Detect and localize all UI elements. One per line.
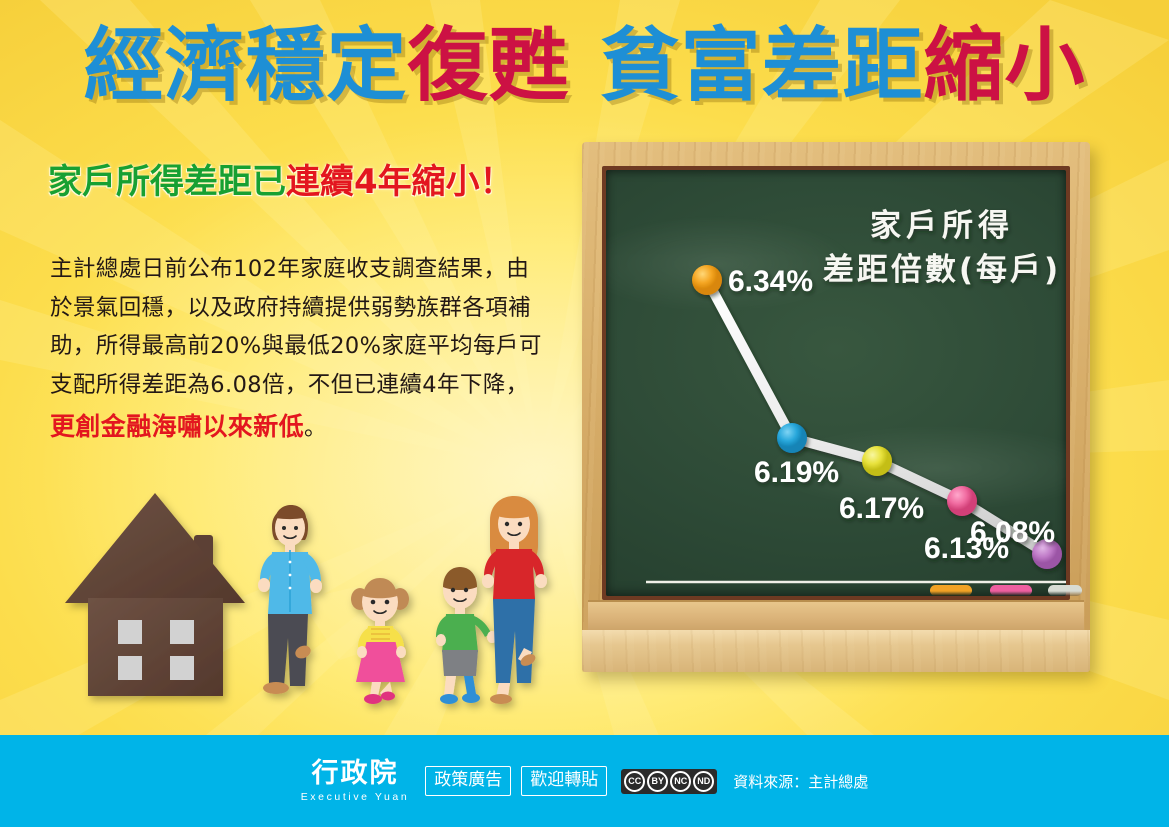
chalk-pink — [990, 585, 1032, 596]
body-text: 主計總處日前公布102年家庭收支調查結果，由於景氣回穩，以及政府持續提供弱勢族群… — [50, 256, 542, 398]
chalk-tray-grain — [582, 630, 1090, 672]
executive-yuan-logo: 行政院 Executive Yuan — [301, 760, 410, 803]
title-part-3: 貧富差距 — [600, 26, 924, 106]
title-part-2: 復甦 — [408, 26, 570, 106]
data-label-99: 6.19% — [754, 456, 839, 489]
chart-title: 家戶所得 差距倍數(每戶) — [823, 208, 1061, 288]
logo-english-text: Executive Yuan — [301, 791, 410, 803]
person-father — [258, 505, 322, 694]
cc-icon: CC — [624, 771, 645, 792]
creative-commons-badge[interactable]: CC BY NC ND — [621, 769, 717, 794]
title-part-1: 經濟穩定 — [84, 26, 408, 106]
family-illustration — [60, 480, 560, 715]
body-copy: 主計總處日前公布102年家庭收支調查結果，由於景氣回穩，以及政府持續提供弱勢族群… — [50, 250, 550, 448]
chalk-tray-front — [582, 630, 1090, 672]
chalk-tray — [582, 600, 1090, 672]
chalk-white — [1048, 585, 1082, 596]
data-source-text: 資料來源：主計總處 — [733, 771, 868, 792]
subtitle-green-text: 家戶所得差距已 — [48, 162, 286, 202]
chart-title-line1: 家戶所得 — [870, 208, 1014, 244]
person-girl — [351, 578, 409, 704]
cc-nc-icon: NC — [670, 771, 691, 792]
body-highlight: 更創金融海嘯以來新低 — [50, 412, 304, 441]
data-label-102: 6.08% — [970, 516, 1055, 549]
house-icon — [65, 493, 245, 696]
subtitle: 家戶所得差距已連續4年縮小！ — [48, 162, 514, 203]
person-mother — [482, 496, 547, 704]
cc-nd-icon: ND — [693, 771, 714, 792]
line-chart: 家戶所得 差距倍數(每戶) 6.34% 6.19% 6.17% 6.13% 6.… — [606, 170, 1066, 596]
data-point-99 — [777, 423, 807, 453]
chalk-orange — [930, 585, 972, 596]
illustration-svg — [60, 480, 560, 715]
data-label-100: 6.17% — [839, 492, 924, 525]
data-point-100 — [862, 446, 892, 476]
chalk-tray-top — [588, 600, 1084, 632]
data-point-101 — [947, 486, 977, 516]
data-label-98: 6.34% — [728, 265, 813, 298]
chalkboard: 家戶所得 差距倍數(每戶) 6.34% 6.19% 6.17% 6.13% 6.… — [582, 142, 1090, 672]
subtitle-red-text: 連續4年縮小！ — [286, 162, 514, 202]
body-tail: 。 — [304, 415, 327, 441]
chart-title-line2: 差距倍數(每戶) — [823, 252, 1061, 288]
cc-by-icon: BY — [647, 771, 668, 792]
policy-ad-badge[interactable]: 政策廣告 — [425, 766, 511, 795]
page-title: 經濟穩定復甦貧富差距縮小 — [0, 26, 1169, 106]
footer-content: 行政院 Executive Yuan 政策廣告 歡迎轉貼 CC BY NC ND… — [0, 735, 1169, 827]
footer-bar: 行政院 Executive Yuan 政策廣告 歡迎轉貼 CC BY NC ND… — [0, 735, 1169, 827]
title-part-4: 縮小 — [924, 26, 1086, 106]
data-point-98 — [692, 265, 722, 295]
logo-chinese-text: 行政院 — [311, 760, 398, 787]
welcome-repost-badge[interactable]: 歡迎轉貼 — [521, 766, 607, 795]
